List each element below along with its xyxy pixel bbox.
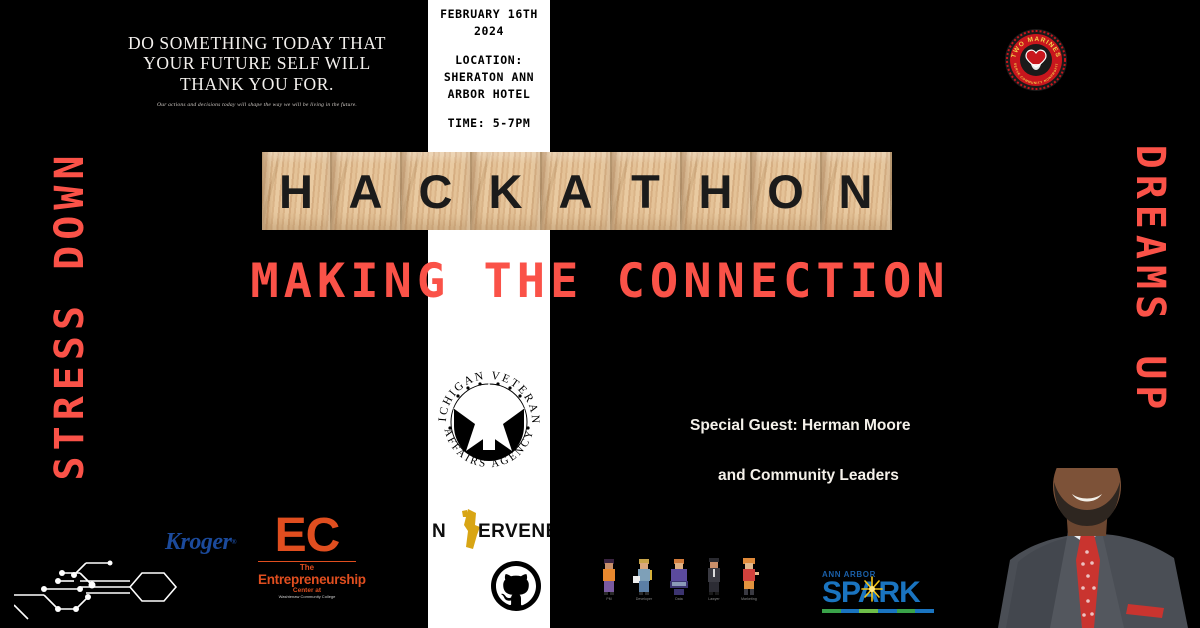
quote-main-text: DO SOMETHING TODAY THAT YOUR FUTURE SELF…	[112, 33, 402, 94]
intervene-logo: N ERVENE	[428, 505, 550, 553]
pixel-person: Lawyer	[701, 556, 727, 601]
event-time: TIME: 5-7PM	[428, 115, 550, 132]
quote-sub-text: Our actions and decisions today will sha…	[112, 102, 402, 108]
pixel-person-label: Developer	[631, 597, 657, 601]
intervene-text-right: ERVENE	[478, 521, 550, 542]
github-logo	[488, 558, 544, 614]
block-letter: A	[349, 164, 384, 219]
venue-line-1: SHERATON ANN	[428, 69, 550, 86]
ec-partner: Washtenaw Community College	[258, 594, 356, 599]
pixel-person-label: PM	[596, 597, 622, 601]
block-letter: H	[699, 164, 734, 219]
headline: MAKING THE CONNECTION	[0, 258, 1200, 305]
wood-block: O	[752, 152, 822, 230]
pixel-people-row: PM Developer Data	[596, 556, 762, 601]
block-letter: C	[419, 164, 454, 219]
ec-subtitle: Center at	[258, 587, 356, 594]
pixel-person: Marketing	[736, 556, 762, 601]
wood-block: C	[402, 152, 472, 230]
wood-block: T	[612, 152, 682, 230]
spark-color-bars	[822, 609, 934, 613]
special-guest-line-2: and Community Leaders	[690, 467, 990, 484]
ec-title: Entrepreneurship	[258, 573, 356, 587]
venue-line-2: ARBOR HOTEL	[428, 86, 550, 103]
pixel-person: PM	[596, 556, 622, 601]
pixel-person-label: Marketing	[736, 597, 762, 601]
headline-part-1: MAKING	[250, 254, 450, 309]
ec-initials: EC	[258, 513, 356, 559]
pixel-person-label: Lawyer	[701, 597, 727, 601]
wood-block: A	[542, 152, 612, 230]
block-letter: K	[489, 164, 524, 219]
michigan-veterans-affairs-agency-seal: MICHIGAN VETERANS AFFAIRS AGENCY	[428, 352, 550, 482]
circuit-trace-graphic	[14, 545, 189, 628]
intervene-text-left: N	[432, 521, 446, 542]
block-letter: T	[631, 164, 661, 219]
hackathon-poster: DO SOMETHING TODAY THAT YOUR FUTURE SELF…	[0, 0, 1200, 628]
hackathon-wood-blocks: H A C K A T H O N	[262, 152, 892, 230]
side-text-left: STRESS DOWN	[50, 95, 90, 535]
entrepreneurship-center-logo: EC The Entrepreneurship Center at Washte…	[258, 513, 356, 599]
wood-block: H	[682, 152, 752, 230]
event-details: FEBRUARY 16TH 2024 LOCATION: SHERATON AN…	[428, 6, 550, 132]
pixel-person: Developer	[631, 556, 657, 601]
kroger-registered-mark: ®	[231, 538, 236, 546]
pixel-person: Data	[666, 556, 692, 601]
location-label: LOCATION:	[428, 52, 550, 69]
block-letter: A	[559, 164, 594, 219]
block-letter: N	[839, 164, 874, 219]
pixel-person-label: Data	[666, 597, 692, 601]
ann-arbor-spark-logo: ANN ARBOR SPARK	[822, 570, 934, 613]
motivational-quote: DO SOMETHING TODAY THAT YOUR FUTURE SELF…	[112, 33, 402, 108]
block-letter: O	[767, 164, 805, 219]
wood-block: N	[822, 152, 892, 230]
wood-block: A	[332, 152, 402, 230]
spark-starburst-icon	[860, 575, 884, 603]
wood-block: H	[262, 152, 332, 230]
special-guest-block: Special Guest: Herman Moore and Communit…	[690, 417, 990, 484]
block-letter: H	[279, 164, 314, 219]
headline-part-2: THE	[483, 254, 583, 309]
special-guest-line-1: Special Guest: Herman Moore	[690, 417, 990, 434]
herman-moore-portrait	[988, 468, 1200, 628]
wood-block: K	[472, 152, 542, 230]
two-marines-badge: TWO MARINES SERVE COMMUNITY NONPROFIT	[1003, 27, 1069, 93]
event-date: FEBRUARY 16TH	[428, 6, 550, 23]
spark-main-text: SPARK	[822, 579, 934, 608]
headline-part-3: CONNECTION	[617, 254, 950, 309]
event-year: 2024	[428, 23, 550, 40]
